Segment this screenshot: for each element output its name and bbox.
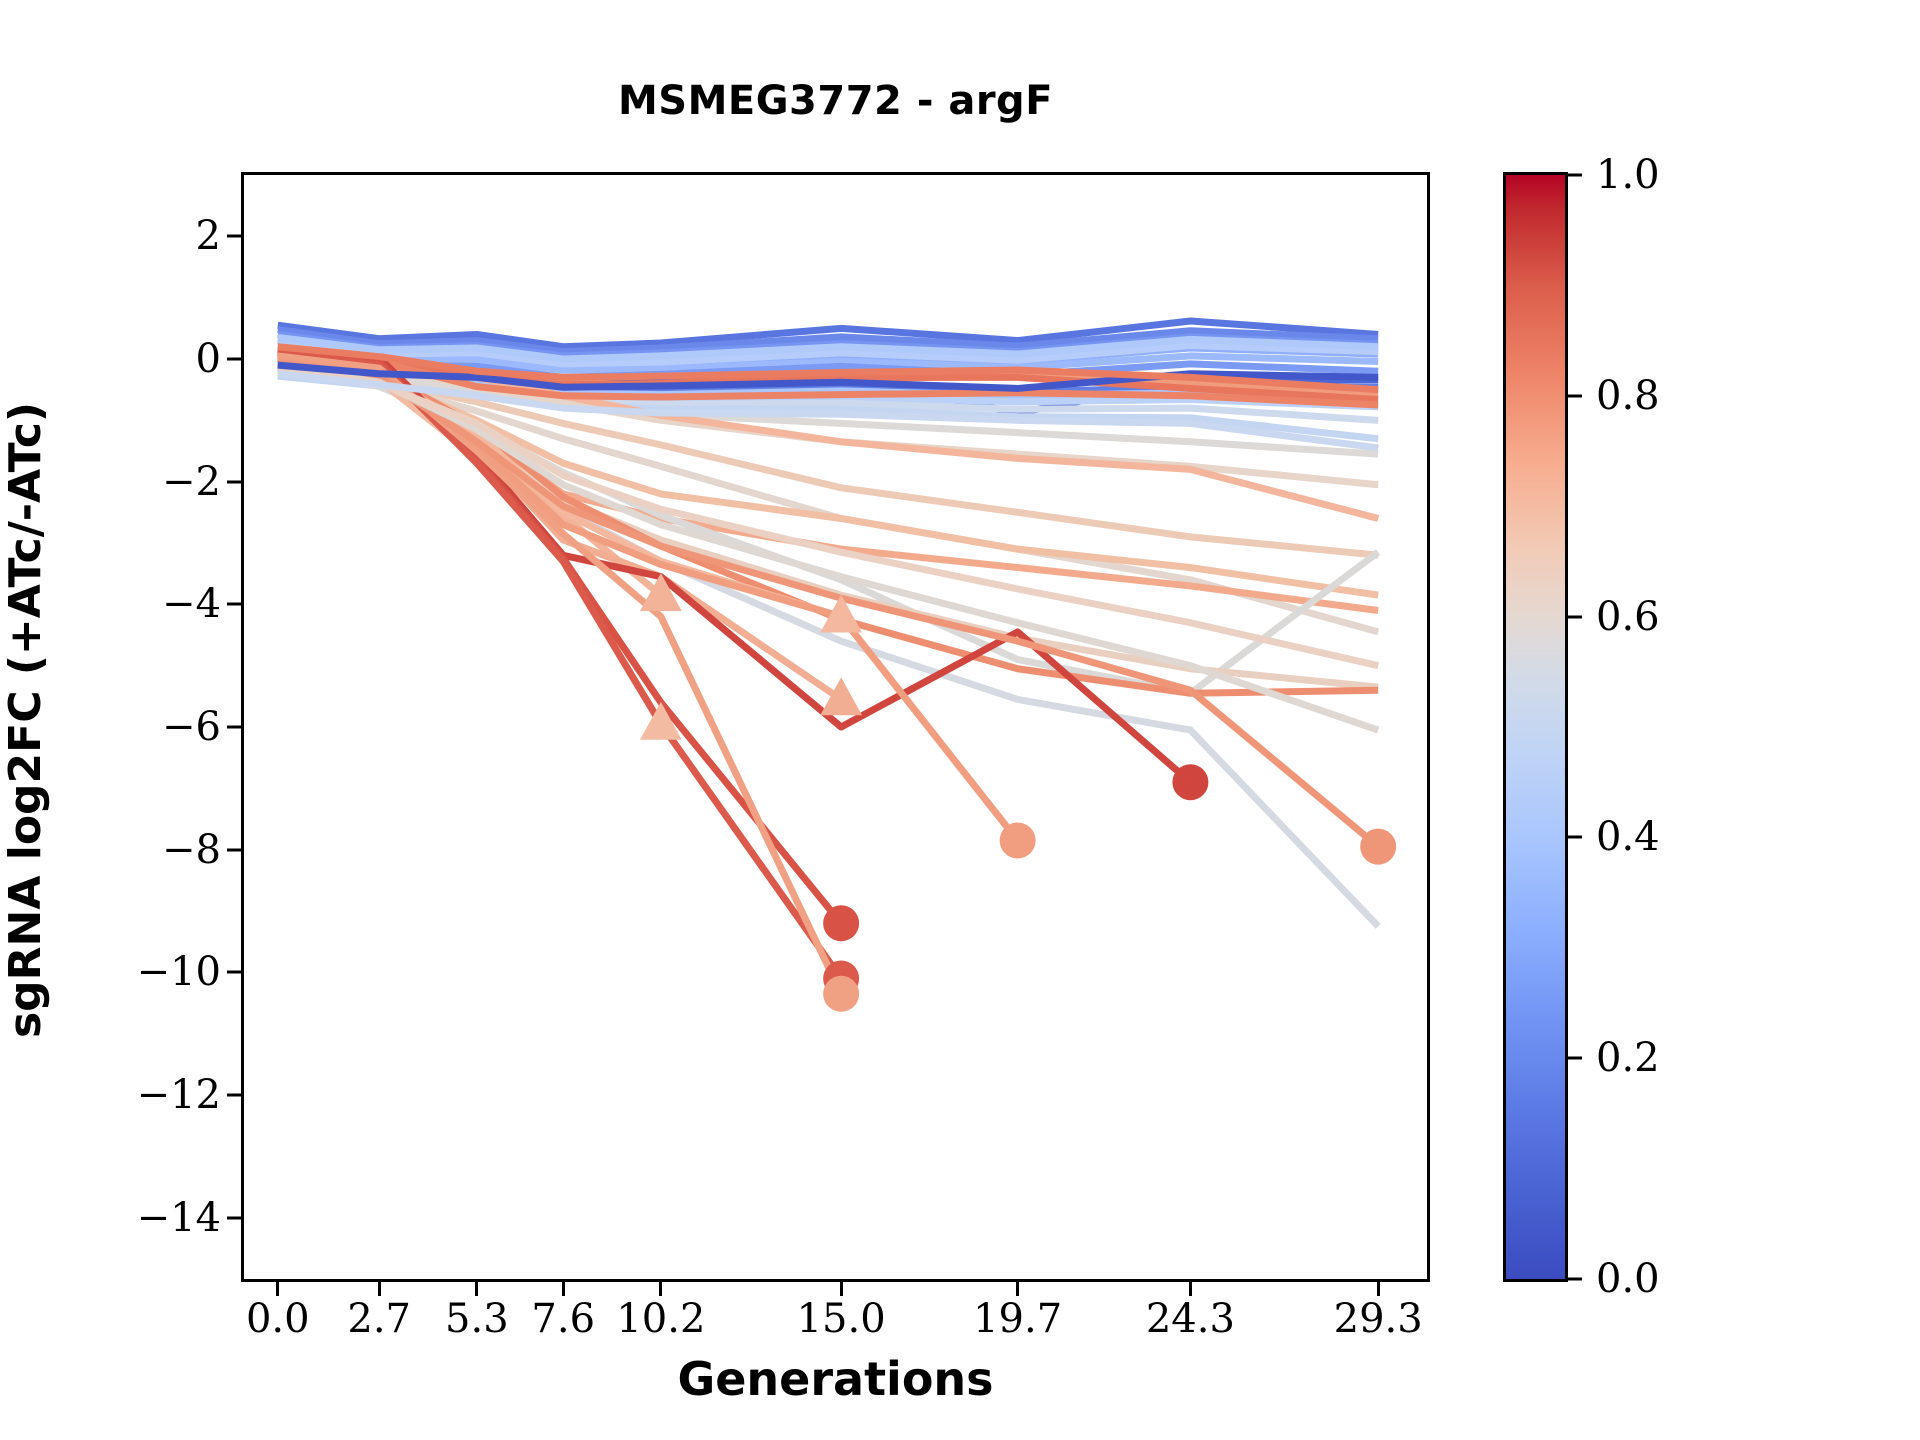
- series-endpoint-circle-marker: [1172, 764, 1208, 800]
- y-tick-mark: [227, 358, 241, 361]
- colorbar-tick-label: 0.8: [1596, 373, 1660, 419]
- y-tick-label: 2: [196, 213, 221, 259]
- x-tick-label: 19.7: [973, 1296, 1062, 1342]
- y-tick-label: −14: [137, 1195, 221, 1241]
- x-tick-label: 29.3: [1334, 1296, 1423, 1342]
- x-tick-label: 7.6: [531, 1296, 595, 1342]
- series-line: [278, 356, 841, 994]
- x-tick-label: 10.2: [616, 1296, 705, 1342]
- colorbar-tick-mark: [1568, 1057, 1582, 1060]
- series-endpoint-circle-marker: [823, 976, 859, 1012]
- y-tick-mark: [227, 726, 241, 729]
- colorbar-tick-mark: [1568, 836, 1582, 839]
- x-tick-label: 0.0: [246, 1296, 310, 1342]
- y-tick-mark: [227, 1094, 241, 1097]
- colorbar-tick-label: 1.0: [1596, 152, 1660, 198]
- y-tick-mark: [227, 848, 241, 851]
- chart-title: MSMEG3772 - argF: [241, 78, 1430, 124]
- y-axis-label: sgRNA log2FC (+ATc/-ATc): [0, 402, 51, 1038]
- y-tick-label: −6: [162, 704, 221, 750]
- colorbar-tick-label: 0.0: [1596, 1256, 1660, 1302]
- line-series-svg: [244, 175, 1427, 1279]
- y-tick-mark: [227, 480, 241, 483]
- chart-page: MSMEG3772 - argF sgRNA log2FC (+ATc/-ATc…: [0, 0, 1920, 1440]
- x-tick-label: 2.7: [347, 1296, 411, 1342]
- series-endpoint-circle-marker: [1360, 829, 1396, 865]
- x-tick-label: 15.0: [797, 1296, 886, 1342]
- y-tick-label: −8: [162, 827, 221, 873]
- colorbar-tick-mark: [1568, 174, 1582, 177]
- y-tick-mark: [227, 235, 241, 238]
- x-tick-mark: [1377, 1282, 1380, 1296]
- x-axis-label: Generations: [241, 1352, 1430, 1406]
- colorbar-tick-label: 0.4: [1596, 814, 1660, 860]
- y-tick-label: −10: [137, 949, 221, 995]
- plot-area: [241, 172, 1430, 1282]
- colorbar-tick-label: 0.6: [1596, 594, 1660, 640]
- x-tick-mark: [1016, 1282, 1019, 1296]
- series-endpoint-circle-marker: [823, 905, 859, 941]
- y-tick-mark: [227, 603, 241, 606]
- y-tick-label: −2: [162, 459, 221, 505]
- x-tick-label: 24.3: [1146, 1296, 1235, 1342]
- colorbar-tick-mark: [1568, 394, 1582, 397]
- colorbar-tick-label: 0.2: [1596, 1035, 1660, 1081]
- colorbar[interactable]: [1503, 172, 1568, 1282]
- series-endpoint-triangle-marker: [820, 677, 862, 715]
- x-tick-label: 5.3: [445, 1296, 509, 1342]
- series-line: [278, 364, 1378, 926]
- series-line: [278, 353, 841, 979]
- colorbar-tick-mark: [1568, 615, 1582, 618]
- x-tick-mark: [659, 1282, 662, 1296]
- x-tick-mark: [562, 1282, 565, 1296]
- x-tick-mark: [276, 1282, 279, 1296]
- x-tick-mark: [378, 1282, 381, 1296]
- colorbar-tick-mark: [1568, 1278, 1582, 1281]
- x-tick-mark: [475, 1282, 478, 1296]
- y-tick-label: 0: [196, 336, 221, 382]
- y-tick-mark: [227, 971, 241, 974]
- x-tick-mark: [840, 1282, 843, 1296]
- y-tick-label: −4: [162, 581, 221, 627]
- y-tick-label: −12: [137, 1072, 221, 1118]
- series-endpoint-circle-marker: [1000, 822, 1036, 858]
- x-tick-mark: [1189, 1282, 1192, 1296]
- y-tick-mark: [227, 1216, 241, 1219]
